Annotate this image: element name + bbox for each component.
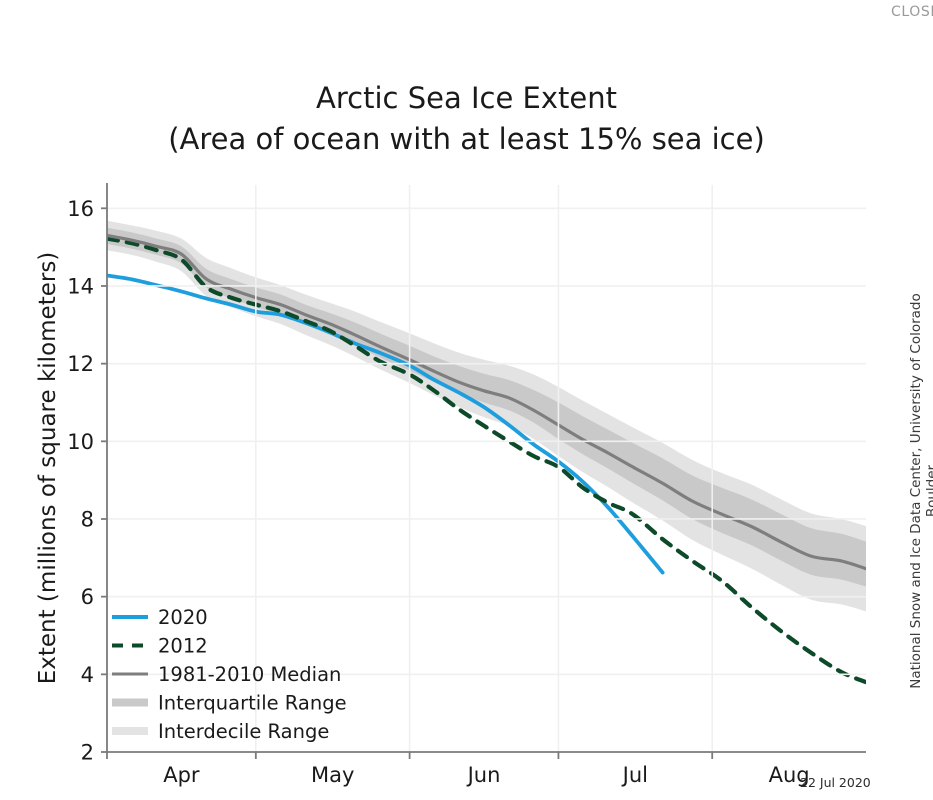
credit-label: National Snow and Ice Data Center, Unive… (908, 281, 933, 701)
y-tick-label: 14 (67, 274, 94, 298)
x-tick-label: Jun (466, 763, 501, 787)
y-tick-label: 8 (81, 507, 94, 531)
legend-label: 2012 (158, 635, 208, 658)
y-tick-label: 10 (67, 430, 94, 454)
legend-label: 1981-2010 Median (158, 663, 341, 686)
x-tick-label: Jul (621, 763, 648, 787)
y-tick-label: 4 (81, 663, 94, 687)
legend-label: 2020 (158, 606, 208, 629)
chart-page: CLOSE Arctic Sea Ice Extent (Area of oce… (0, 0, 933, 800)
y-tick-label: 16 (67, 197, 94, 221)
y-tick-label: 12 (67, 352, 94, 376)
date-stamp: 22 Jul 2020 (800, 775, 871, 790)
y-tick-label: 6 (81, 585, 94, 609)
legend-label: Interdecile Range (158, 720, 329, 743)
legend-label: Interquartile Range (158, 692, 347, 715)
y-tick-label: 2 (81, 741, 94, 765)
series-line-2012 (107, 239, 866, 683)
x-tick-label: Apr (163, 763, 200, 787)
x-tick-label: May (311, 763, 354, 787)
chart-plot-area: 246810121416AprMayJunJulAug202020121981-… (0, 0, 933, 800)
